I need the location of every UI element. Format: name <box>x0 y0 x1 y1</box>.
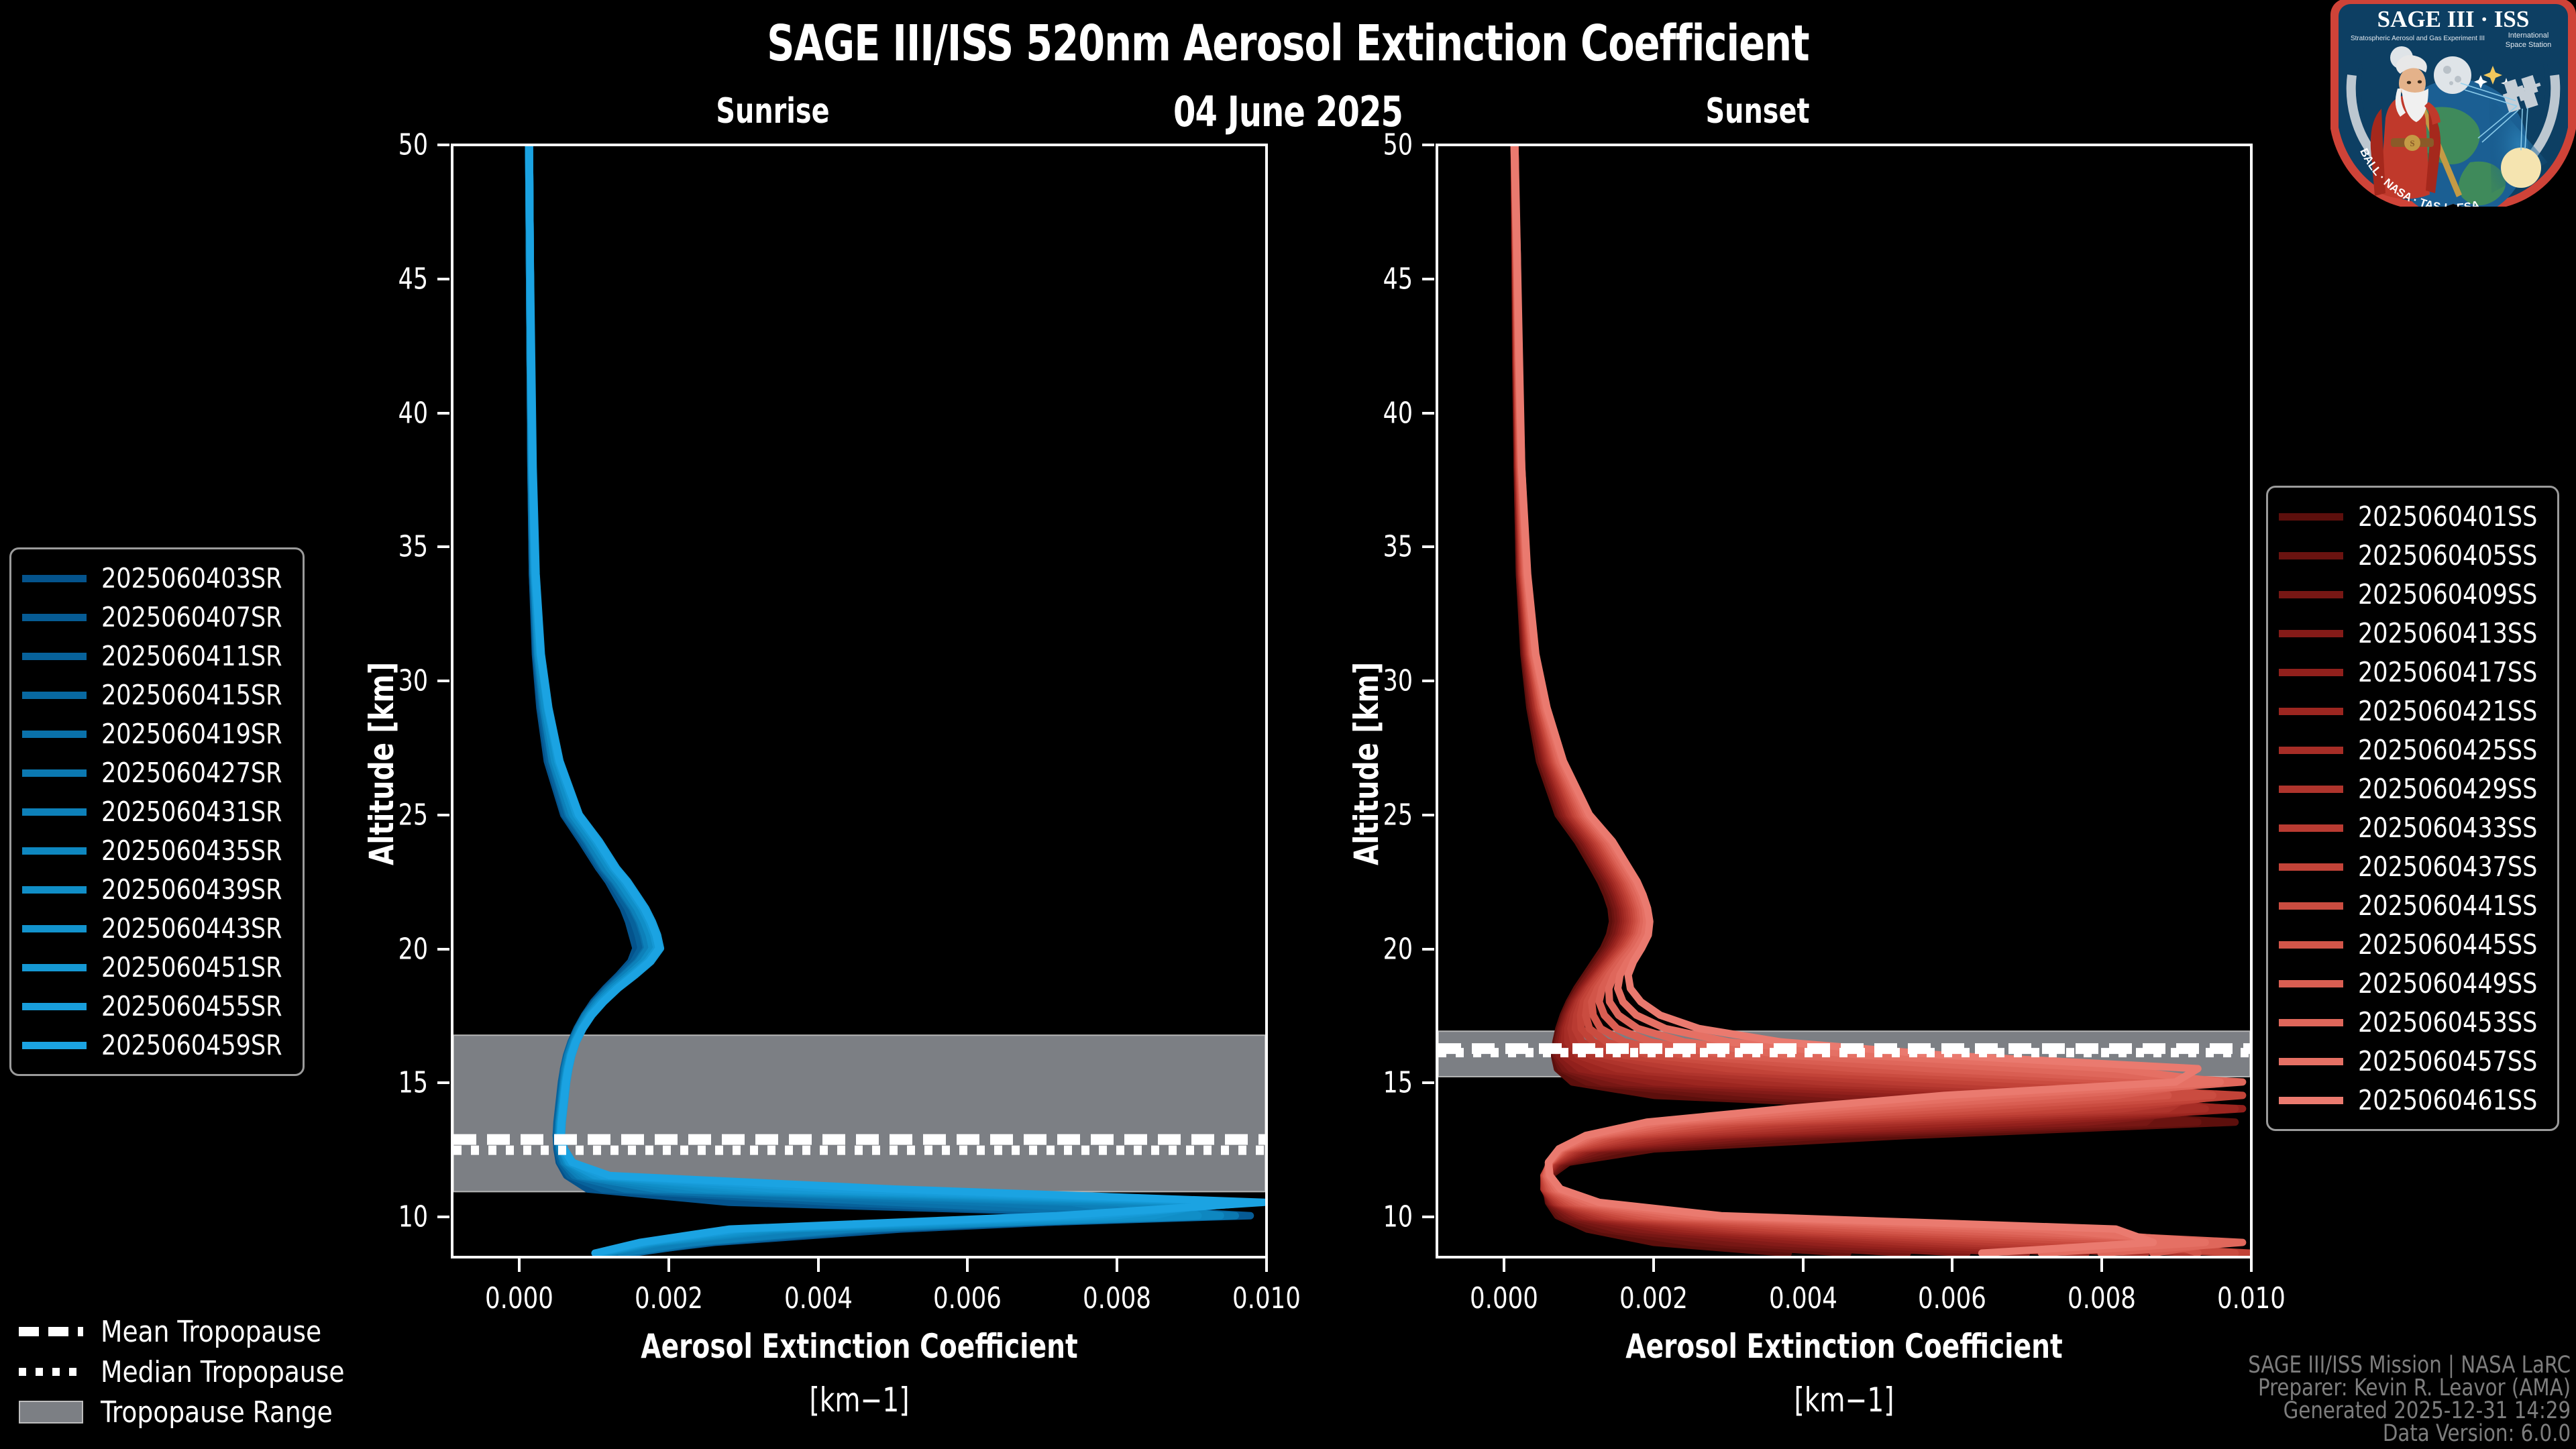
legend-item-label: 2025060425SS <box>2358 734 2537 766</box>
legend-item[interactable]: 2025060429SS <box>2279 769 2546 808</box>
legend-item-label: 2025060443SR <box>101 912 282 945</box>
legend-item[interactable]: 2025060445SS <box>2279 925 2546 964</box>
legend-color-swatch <box>2279 863 2343 871</box>
y-axis-tick-label: 20 <box>1356 932 1413 966</box>
legend-color-swatch <box>2279 708 2343 715</box>
legend-item[interactable]: 2025060451SR <box>22 948 292 987</box>
logo-subtitle-right-1: International <box>2508 32 2549 40</box>
plot-area-sunrise[interactable] <box>451 144 1268 1258</box>
y-axis-tick-mark <box>437 680 449 682</box>
legend-item[interactable]: 2025060405SS <box>2279 536 2546 575</box>
x-axis-tick-label: 0.004 <box>752 1281 885 1316</box>
x-axis-tick-mark <box>667 1258 670 1272</box>
y-axis-tick-mark <box>1422 144 1434 146</box>
legend-color-swatch <box>22 614 87 621</box>
y-axis-tick-mark <box>1422 412 1434 415</box>
x-axis-tick-mark <box>966 1258 969 1272</box>
x-axis-tick-label: 0.002 <box>602 1281 735 1316</box>
y-axis-tick-label: 45 <box>1356 262 1413 296</box>
legend-color-swatch <box>2279 902 2343 910</box>
credit-preparer: Preparer: Kevin R. Leavor (AMA) <box>2248 1377 2571 1399</box>
legend-color-swatch <box>2279 1019 2343 1026</box>
credits-block: SAGE III/ISS Mission | NASA LaRC Prepare… <box>2224 1354 2571 1445</box>
legend-color-swatch <box>2279 1058 2343 1065</box>
legend-item[interactable]: 2025060455SR <box>22 987 292 1026</box>
legend-item-label: 2025060429SS <box>2358 773 2537 805</box>
legend-color-swatch <box>22 731 87 738</box>
legend-item[interactable]: 2025060415SR <box>22 676 292 714</box>
legend-item-label: 2025060435SR <box>101 835 282 867</box>
legend-item[interactable]: 2025060457SS <box>2279 1042 2546 1081</box>
credit-mission: SAGE III/ISS Mission | NASA LaRC <box>2248 1354 2571 1377</box>
legend-item[interactable]: 2025060407SR <box>22 598 292 637</box>
x-axis-unit-sunset: [km−1] <box>1488 1381 2200 1419</box>
x-axis-tick-mark <box>1951 1258 1953 1272</box>
x-axis-tick-mark <box>2100 1258 2103 1272</box>
y-axis-title-sunrise: Altitude [km] <box>362 662 401 865</box>
sage-iii-iss-logo: S SAGE III · ISS Stratospheric Aerosol a… <box>2326 0 2576 207</box>
legend-color-swatch <box>22 653 87 660</box>
mean-tropopause-label: Mean Tropopause <box>101 1315 321 1349</box>
legend-color-swatch <box>22 886 87 894</box>
y-axis-tick-label: 15 <box>372 1066 428 1100</box>
legend-item[interactable]: 2025060417SS <box>2279 653 2546 692</box>
legend-item[interactable]: 2025060461SS <box>2279 1081 2546 1120</box>
y-axis-tick-mark <box>437 412 449 415</box>
tropopause-key-mean: Mean Tropopause <box>19 1311 358 1352</box>
legend-color-swatch <box>2279 552 2343 559</box>
legend-item-label: 2025060441SS <box>2358 890 2537 922</box>
median-tropopause-label: Median Tropopause <box>101 1355 344 1389</box>
legend-color-swatch <box>2279 1097 2343 1104</box>
x-axis-tick-label: 0.010 <box>2185 1281 2318 1316</box>
y-axis-tick-mark <box>1422 1216 1434 1218</box>
x-axis-tick-label: 0.008 <box>1051 1281 1183 1316</box>
x-axis-tick-label: 0.008 <box>2035 1281 2168 1316</box>
legend-item-label: 2025060439SR <box>101 873 282 906</box>
tropopause-key-median: Median Tropopause <box>19 1352 358 1392</box>
tropopause-key: Mean Tropopause Median Tropopause Tropop… <box>19 1311 358 1432</box>
x-axis-title-sunset: Aerosol Extinction Coefficient <box>1488 1327 2200 1366</box>
y-axis-tick-label: 10 <box>372 1200 428 1234</box>
logo-title: SAGE III · ISS <box>2377 6 2530 32</box>
legend-color-swatch <box>2279 630 2343 637</box>
legend-color-swatch <box>2279 669 2343 676</box>
y-axis-tick-label: 35 <box>372 530 428 564</box>
dotted-line-icon <box>19 1368 83 1376</box>
logo-subtitle-left: Stratospheric Aerosol and Gas Experiment… <box>2351 35 2485 42</box>
legend-color-swatch <box>22 808 87 816</box>
legend-item[interactable]: 2025060437SS <box>2279 847 2546 886</box>
legend-item-label: 2025060431SR <box>101 796 282 828</box>
panel-title-sunrise: Sunrise <box>613 91 932 131</box>
y-axis-tick-label: 40 <box>1356 396 1413 430</box>
y-axis-tick-label: 50 <box>372 128 428 162</box>
y-axis-tick-mark <box>1422 1081 1434 1084</box>
x-axis-tick-mark <box>1802 1258 1805 1272</box>
y-axis-tick-label: 20 <box>372 932 428 966</box>
x-axis-tick-label: 0.000 <box>453 1281 586 1316</box>
legend-item[interactable]: 2025060403SR <box>22 559 292 598</box>
legend-color-swatch <box>2279 941 2343 949</box>
legend-item-label: 2025060405SS <box>2358 539 2537 572</box>
legend-item-label: 2025060433SS <box>2358 812 2537 844</box>
legend-item[interactable]: 2025060443SR <box>22 909 292 948</box>
x-axis-tick-label: 0.004 <box>1737 1281 1870 1316</box>
y-axis-tick-label: 40 <box>372 396 428 430</box>
plot-area-sunset[interactable] <box>1436 144 2253 1258</box>
tropopause-range-label: Tropopause Range <box>101 1395 333 1430</box>
legend-color-swatch <box>22 575 87 582</box>
y-axis-tick-mark <box>1422 680 1434 682</box>
legend-color-swatch <box>22 692 87 699</box>
legend-item[interactable]: 2025060409SS <box>2279 575 2546 614</box>
y-axis-tick-mark <box>1422 278 1434 280</box>
logo-subtitle-right-2: Space Station <box>2506 41 2552 49</box>
x-axis-tick-mark <box>817 1258 820 1272</box>
legend-item-label: 2025060461SS <box>2358 1084 2537 1116</box>
legend-color-swatch <box>22 925 87 932</box>
legend-item[interactable]: 2025060433SS <box>2279 808 2546 847</box>
y-axis-tick-mark <box>437 545 449 548</box>
legend-item-label: 2025060459SR <box>101 1029 282 1061</box>
y-axis-tick-mark <box>1422 948 1434 951</box>
x-axis-tick-mark <box>2250 1258 2253 1272</box>
y-axis-tick-mark <box>1422 814 1434 816</box>
legend-item-label: 2025060409SS <box>2358 578 2537 610</box>
y-axis-tick-label: 50 <box>1356 128 1413 162</box>
y-axis-tick-mark <box>1422 545 1434 548</box>
y-axis-title-sunset: Altitude [km] <box>1347 662 1386 865</box>
legend-item[interactable]: 2025060425SS <box>2279 731 2546 769</box>
legend-item[interactable]: 2025060441SS <box>2279 886 2546 925</box>
legend-item-label: 2025060427SR <box>101 757 282 789</box>
legend-color-swatch <box>22 964 87 971</box>
legend-item-label: 2025060401SS <box>2358 500 2537 533</box>
legend-item[interactable]: 2025060421SS <box>2279 692 2546 731</box>
x-axis-tick-mark <box>1503 1258 1505 1272</box>
legend-item-label: 2025060417SS <box>2358 656 2537 688</box>
x-axis-tick-label: 0.006 <box>1886 1281 2019 1316</box>
y-axis-tick-label: 35 <box>1356 530 1413 564</box>
x-axis-tick-label: 0.010 <box>1200 1281 1333 1316</box>
legend-item[interactable]: 2025060453SS <box>2279 1003 2546 1042</box>
panel-title-sunset: Sunset <box>1598 91 1917 131</box>
legend-item[interactable]: 2025060459SR <box>22 1026 292 1065</box>
legend-item[interactable]: 2025060411SR <box>22 637 292 676</box>
legend-sunset[interactable]: 2025060401SS2025060405SS2025060409SS2025… <box>2266 486 2559 1131</box>
x-axis-unit-sunrise: [km−1] <box>503 1381 1215 1419</box>
legend-item-label: 2025060407SR <box>101 601 282 633</box>
y-axis-tick-label: 10 <box>1356 1200 1413 1234</box>
legend-color-swatch <box>2279 591 2343 598</box>
legend-color-swatch <box>2279 747 2343 754</box>
tropopause-key-range: Tropopause Range <box>19 1392 358 1432</box>
legend-item[interactable]: 2025060449SS <box>2279 964 2546 1003</box>
svg-text:S: S <box>2410 138 2414 148</box>
legend-item[interactable]: 2025060419SR <box>22 714 292 753</box>
legend-item-label: 2025060455SR <box>101 990 282 1022</box>
y-axis-tick-label: 15 <box>1356 1066 1413 1100</box>
legend-color-swatch <box>2279 980 2343 987</box>
legend-item[interactable]: 2025060413SS <box>2279 614 2546 653</box>
legend-color-swatch <box>2279 824 2343 832</box>
y-axis-tick-label: 45 <box>372 262 428 296</box>
x-axis-title-sunrise: Aerosol Extinction Coefficient <box>503 1327 1215 1366</box>
legend-color-swatch <box>2279 786 2343 793</box>
x-axis-tick-mark <box>1265 1258 1268 1272</box>
legend-item-label: 2025060457SS <box>2358 1045 2537 1077</box>
x-axis-tick-mark <box>518 1258 521 1272</box>
y-axis-tick-mark <box>437 278 449 280</box>
legend-item[interactable]: 2025060401SS <box>2279 497 2546 536</box>
x-axis-tick-label: 0.006 <box>901 1281 1034 1316</box>
legend-item[interactable]: 2025060431SR <box>22 792 292 831</box>
x-axis-tick-label: 0.002 <box>1587 1281 1720 1316</box>
legend-item[interactable]: 2025060435SR <box>22 831 292 870</box>
legend-color-swatch <box>2279 513 2343 521</box>
x-axis-tick-mark <box>1116 1258 1118 1272</box>
legend-item-label: 2025060445SS <box>2358 928 2537 961</box>
credit-data-version: Data Version: 6.0.0 <box>2248 1422 2571 1445</box>
y-axis-tick-mark <box>437 1216 449 1218</box>
legend-item-label: 2025060411SR <box>101 640 282 672</box>
credit-generated: Generated 2025-12-31 14:29 <box>2248 1399 2571 1422</box>
legend-item[interactable]: 2025060427SR <box>22 753 292 792</box>
legend-item[interactable]: 2025060439SR <box>22 870 292 909</box>
legend-item-label: 2025060419SR <box>101 718 282 750</box>
page-title: SAGE III/ISS 520nm Aerosol Extinction Co… <box>180 15 2396 72</box>
date-subtitle: 04 June 2025 <box>180 87 2396 136</box>
x-axis-tick-mark <box>1652 1258 1655 1272</box>
legend-sunrise[interactable]: 2025060403SR2025060407SR2025060411SR2025… <box>9 547 305 1076</box>
legend-color-swatch <box>22 769 87 777</box>
legend-color-swatch <box>22 1042 87 1049</box>
range-swatch-icon <box>19 1401 83 1424</box>
legend-item-label: 2025060415SR <box>101 679 282 711</box>
dashed-line-icon <box>19 1327 83 1336</box>
legend-item-label: 2025060453SS <box>2358 1006 2537 1038</box>
legend-item-label: 2025060449SS <box>2358 967 2537 1000</box>
y-axis-tick-mark <box>437 814 449 816</box>
legend-item-label: 2025060451SR <box>101 951 282 983</box>
sunrise-profile-svg <box>453 146 1265 1256</box>
legend-item-label: 2025060437SS <box>2358 851 2537 883</box>
legend-item-label: 2025060403SR <box>101 562 282 594</box>
y-axis-tick-mark <box>437 144 449 146</box>
legend-item-label: 2025060421SS <box>2358 695 2537 727</box>
y-axis-tick-mark <box>437 1081 449 1084</box>
x-axis-tick-label: 0.000 <box>1438 1281 1570 1316</box>
legend-item-label: 2025060413SS <box>2358 617 2537 649</box>
y-axis-tick-mark <box>437 948 449 951</box>
legend-color-swatch <box>22 1003 87 1010</box>
sunset-profile-svg <box>1438 146 2250 1256</box>
legend-color-swatch <box>22 847 87 855</box>
